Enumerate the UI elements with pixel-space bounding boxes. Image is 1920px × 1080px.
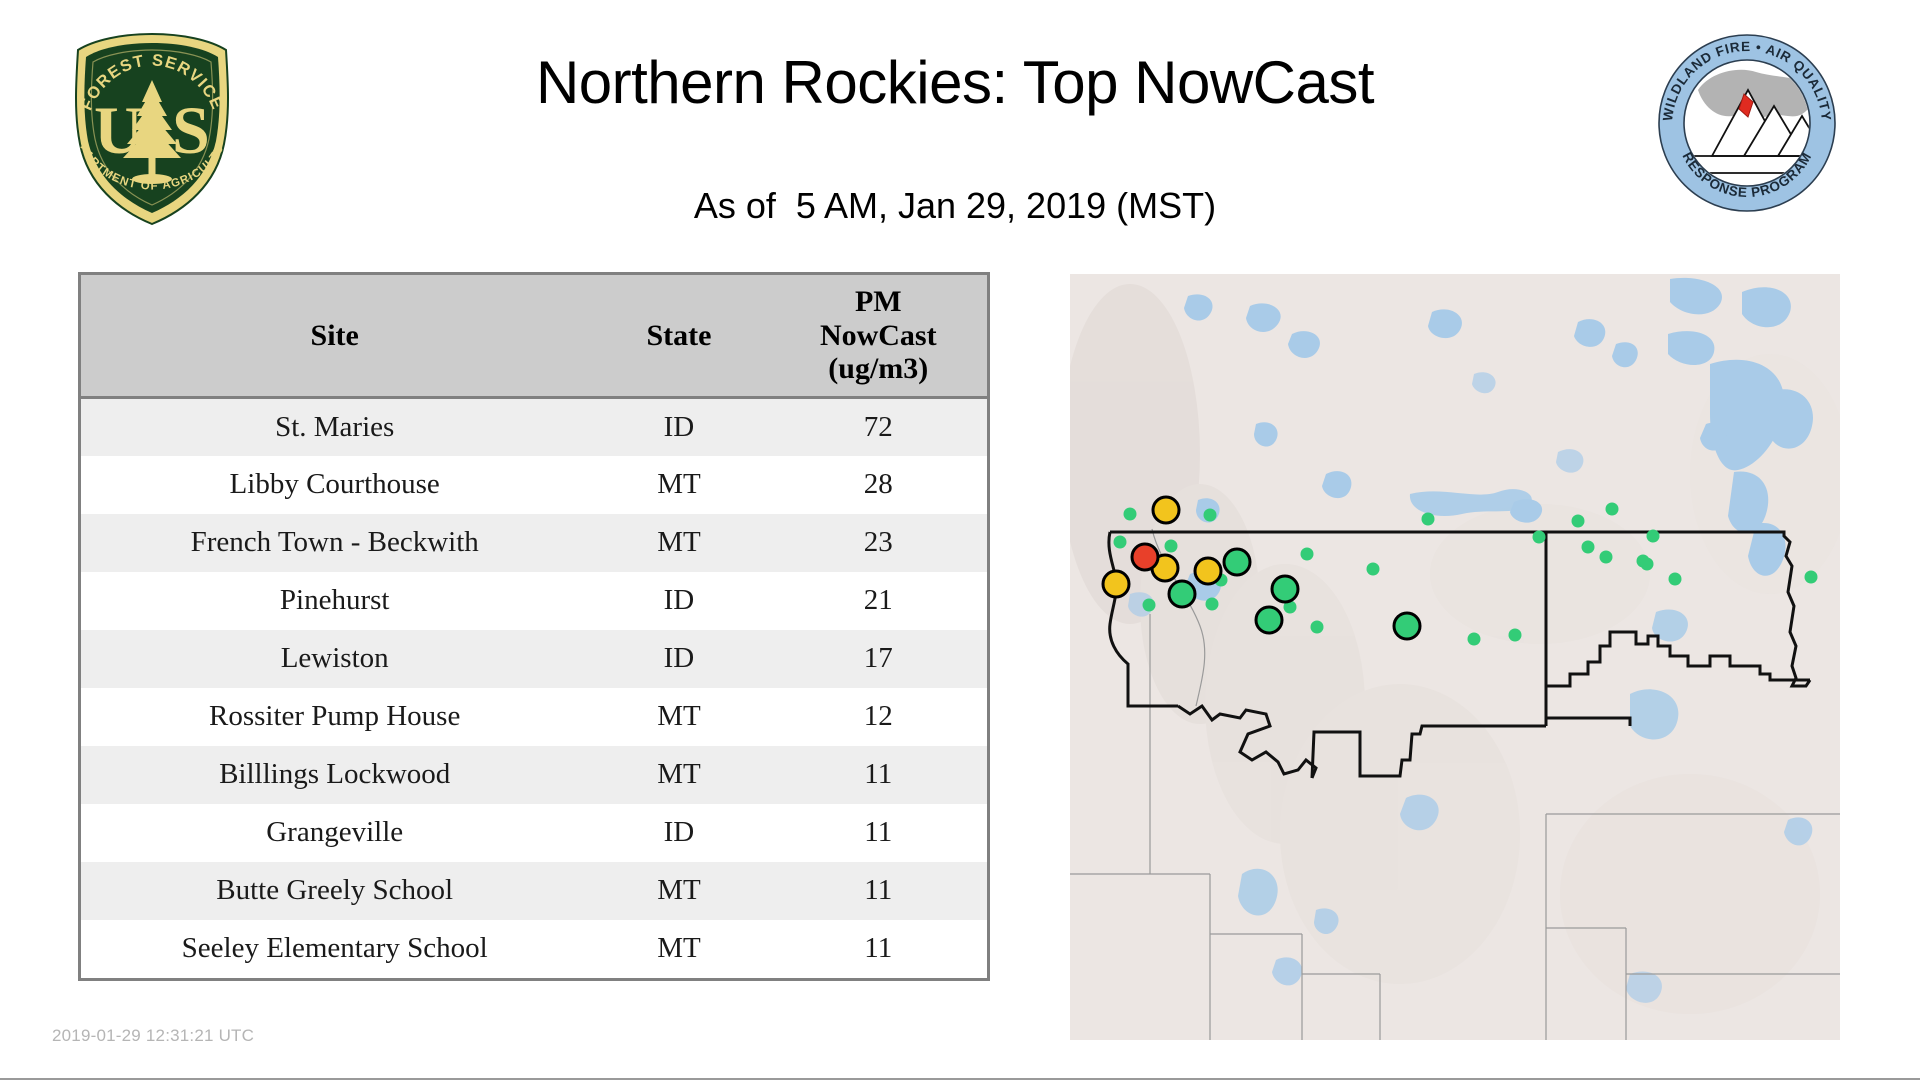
page-subtitle: As of 5 AM, Jan 29, 2019 (MST) [260, 185, 1650, 227]
cell-pm-nowcast: 11 [770, 920, 987, 978]
monitor-dot-small [1669, 573, 1682, 586]
cell-pm-nowcast: 17 [770, 630, 987, 688]
column-header-site: Site [81, 275, 588, 397]
table-row: Seeley Elementary SchoolMT11 [81, 920, 987, 978]
top-nowcast-table: Site State PM NowCast (ug/m3) St. Maries… [81, 275, 987, 978]
cell-pm-nowcast: 11 [770, 746, 987, 804]
cell-state: MT [588, 688, 769, 746]
cell-state: MT [588, 920, 769, 978]
monitor-dot-small [1114, 536, 1127, 549]
pm-header-line1: PM [774, 285, 983, 319]
cell-site: Libby Courthouse [81, 456, 588, 514]
pm-header-line2: NowCast [774, 319, 983, 353]
monitor-dot-small [1509, 629, 1522, 642]
table-row: Rossiter Pump HouseMT12 [81, 688, 987, 746]
monitor-dot-small [1805, 571, 1818, 584]
cell-pm-nowcast: 11 [770, 804, 987, 862]
table-row: LewistonID17 [81, 630, 987, 688]
column-header-state: State [588, 275, 769, 397]
cell-pm-nowcast: 72 [770, 397, 987, 456]
monitor-dot-small [1301, 548, 1314, 561]
cell-state: MT [588, 514, 769, 572]
monitor-dot-small [1468, 633, 1481, 646]
map-svg [1070, 274, 1840, 1040]
monitor-dot-good[interactable] [1394, 613, 1420, 639]
cell-state: ID [588, 572, 769, 630]
cell-site: Lewiston [81, 630, 588, 688]
monitor-dot-small [1311, 621, 1324, 634]
wfaqrp-logo: WILDLAND FIRE • AIR QUALITY RESPONSE PRO… [1652, 28, 1842, 218]
monitor-dot-small [1204, 509, 1217, 522]
monitor-dot-small [1124, 508, 1137, 521]
cell-pm-nowcast: 11 [770, 862, 987, 920]
monitor-dot-moderate[interactable] [1195, 558, 1221, 584]
cell-site: Grangeville [81, 804, 588, 862]
cell-site: Butte Greely School [81, 862, 588, 920]
monitor-dot-small [1647, 530, 1660, 543]
monitor-dot-small [1165, 540, 1178, 553]
monitor-dot-unhealthy_sensitive[interactable] [1132, 544, 1158, 570]
cell-state: ID [588, 804, 769, 862]
table-row: PinehurstID21 [81, 572, 987, 630]
cell-state: ID [588, 630, 769, 688]
monitor-map[interactable] [1070, 274, 1840, 1040]
monitor-dot-small [1582, 541, 1595, 554]
generated-timestamp: 2019-01-29 12:31:21 UTC [52, 1026, 254, 1046]
cell-state: MT [588, 746, 769, 804]
table-row: Billlings LockwoodMT11 [81, 746, 987, 804]
monitor-dot-good[interactable] [1169, 581, 1195, 607]
table-row: GrangevilleID11 [81, 804, 987, 862]
nowcast-report-page: FOREST SERVICE U S DEPARTMENT OF AGRICUL… [0, 0, 1920, 1080]
monitor-dot-small [1600, 551, 1613, 564]
monitor-dot-small [1367, 563, 1380, 576]
monitor-dot-small [1572, 515, 1585, 528]
table-row: French Town - BeckwithMT23 [81, 514, 987, 572]
cell-pm-nowcast: 21 [770, 572, 987, 630]
cell-state: ID [588, 397, 769, 456]
monitor-dot-small [1143, 599, 1156, 612]
monitor-dot-small [1533, 531, 1546, 544]
page-title: Northern Rockies: Top NowCast [260, 48, 1650, 117]
table-row: St. MariesID72 [81, 397, 987, 456]
cell-site: French Town - Beckwith [81, 514, 588, 572]
cell-site: Pinehurst [81, 572, 588, 630]
cell-site: Rossiter Pump House [81, 688, 588, 746]
cell-pm-nowcast: 28 [770, 456, 987, 514]
monitor-dot-small [1206, 598, 1219, 611]
table-row: Libby CourthouseMT28 [81, 456, 987, 514]
us-forest-service-logo: FOREST SERVICE U S DEPARTMENT OF AGRICUL… [52, 28, 252, 228]
column-header-pm-nowcast: PM NowCast (ug/m3) [770, 275, 987, 397]
monitor-dot-moderate[interactable] [1153, 497, 1179, 523]
cell-state: MT [588, 862, 769, 920]
cell-state: MT [588, 456, 769, 514]
top-nowcast-table-container: Site State PM NowCast (ug/m3) St. Maries… [78, 272, 990, 981]
monitor-dot-good[interactable] [1256, 607, 1282, 633]
table-body: St. MariesID72Libby CourthouseMT28French… [81, 397, 987, 978]
monitor-dot-small [1641, 558, 1654, 571]
cell-site: Seeley Elementary School [81, 920, 588, 978]
cell-pm-nowcast: 23 [770, 514, 987, 572]
cell-pm-nowcast: 12 [770, 688, 987, 746]
cell-site: Billlings Lockwood [81, 746, 588, 804]
table-header: Site State PM NowCast (ug/m3) [81, 275, 987, 397]
monitor-dot-small [1606, 503, 1619, 516]
monitor-dot-moderate[interactable] [1103, 571, 1129, 597]
cell-site: St. Maries [81, 397, 588, 456]
monitor-dot-good[interactable] [1272, 576, 1298, 602]
monitor-dot-good[interactable] [1224, 549, 1250, 575]
table-row: Butte Greely SchoolMT11 [81, 862, 987, 920]
table-header-row: Site State PM NowCast (ug/m3) [81, 275, 987, 397]
monitor-dot-small [1422, 513, 1435, 526]
pm-header-line3: (ug/m3) [774, 352, 983, 386]
